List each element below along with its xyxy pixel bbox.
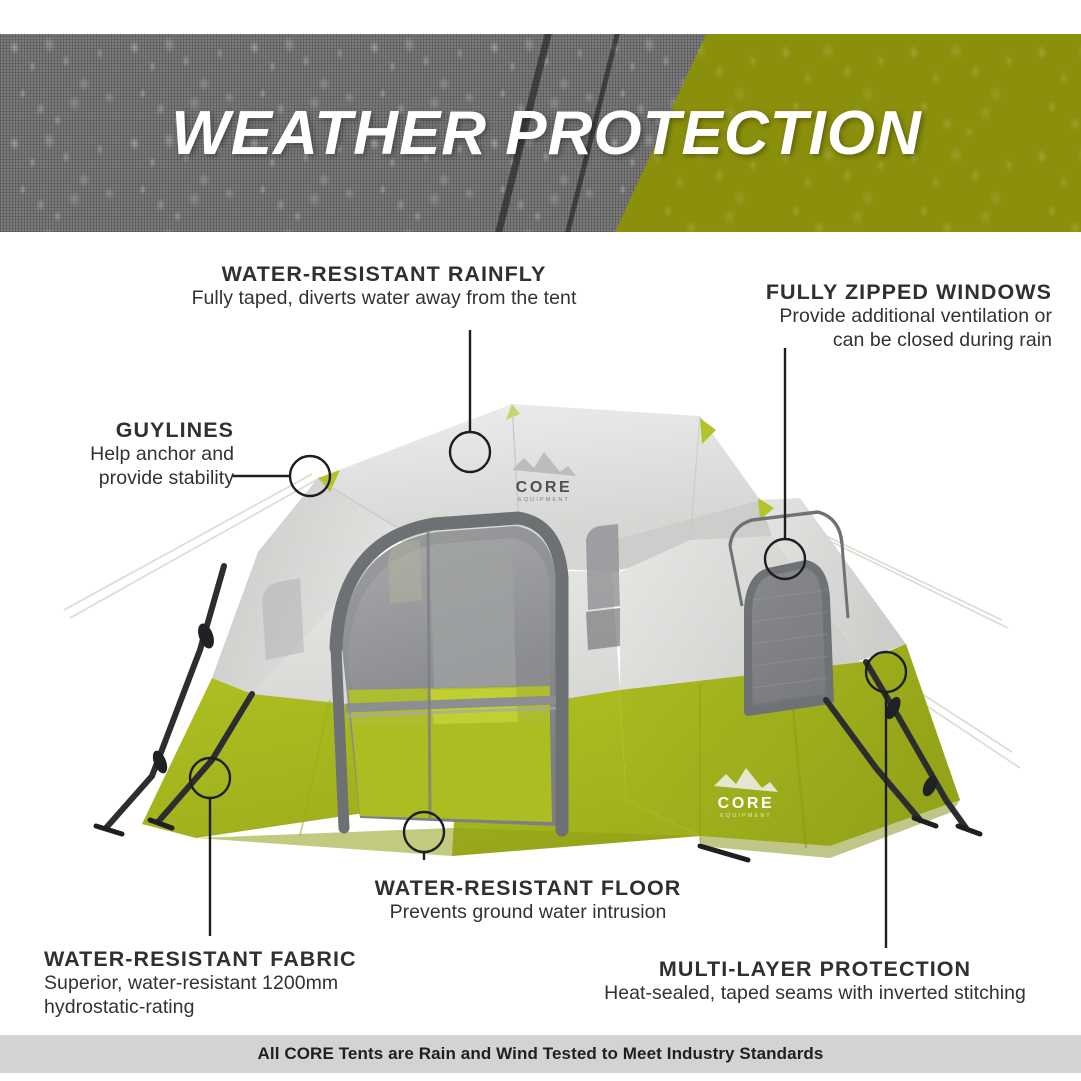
callout-subtitle-line2: can be closed during rain [680, 329, 1052, 353]
callout-rainfly: WATER-RESISTANT RAINFLY Fully taped, div… [178, 262, 590, 311]
tent-rainfly [212, 404, 906, 694]
callout-title: WATER-RESISTANT RAINFLY [178, 262, 590, 287]
callout-floor: WATER-RESISTANT FLOOR Prevents ground wa… [352, 876, 704, 925]
leader-lines [190, 330, 906, 948]
callout-multi-layer: MULTI-LAYER PROTECTION Heat-sealed, tape… [580, 957, 1050, 1006]
callout-title: WATER-RESISTANT FABRIC [44, 947, 464, 972]
core-logo-rainfly: CORE EQUIPMENT [512, 452, 576, 503]
callout-fabric: WATER-RESISTANT FABRIC Superior, water-r… [44, 947, 464, 1020]
tent-side-window [730, 512, 848, 712]
tent-rear-window [586, 524, 620, 650]
page-title: WEATHER PROTECTION [0, 34, 1081, 232]
header-banner: WEATHER PROTECTION [0, 34, 1081, 232]
tent-poles [106, 566, 966, 828]
tent-interior-window [388, 540, 422, 604]
core-logo-green-panel: CORE EQUIPMENT [714, 768, 778, 819]
callout-subtitle-line1: Provide additional ventilation or [680, 305, 1052, 329]
callout-subtitle-line2: provide stability [34, 467, 234, 491]
svg-text:CORE: CORE [516, 479, 573, 496]
callout-title: FULLY ZIPPED WINDOWS [680, 280, 1052, 305]
tent-front-door [332, 514, 566, 836]
callout-title: MULTI-LAYER PROTECTION [580, 957, 1050, 982]
guyline-cords [64, 474, 1020, 768]
callout-title: WATER-RESISTANT FLOOR [352, 876, 704, 901]
footer-text: All CORE Tents are Rain and Wind Tested … [258, 1044, 824, 1064]
callout-subtitle: Prevents ground water intrusion [352, 901, 704, 925]
svg-text:CORE: CORE [718, 795, 775, 812]
callout-subtitle-line2: hydrostatic-rating [44, 996, 464, 1020]
callout-subtitle: Heat-sealed, taped seams with inverted s… [580, 982, 1050, 1006]
callout-guylines: GUYLINES Help anchor and provide stabili… [34, 418, 234, 491]
callout-windows: FULLY ZIPPED WINDOWS Provide additional … [680, 280, 1052, 353]
svg-text:EQUIPMENT: EQUIPMENT [720, 813, 772, 819]
callout-subtitle-line1: Superior, water-resistant 1200mm [44, 972, 464, 996]
tent-stakes [96, 818, 980, 860]
infographic-page: WEATHER PROTECTION [0, 0, 1081, 1081]
callout-title: GUYLINES [34, 418, 234, 443]
callout-subtitle: Fully taped, diverts water away from the… [178, 287, 590, 311]
tent-body-upper [230, 536, 868, 716]
pole-ferrules [150, 621, 940, 798]
svg-text:EQUIPMENT: EQUIPMENT [518, 497, 570, 503]
tent-green-panels [142, 644, 960, 858]
footer-bar: All CORE Tents are Rain and Wind Tested … [0, 1035, 1081, 1073]
callout-subtitle-line1: Help anchor and [34, 443, 234, 467]
tent-left-window [262, 578, 304, 660]
